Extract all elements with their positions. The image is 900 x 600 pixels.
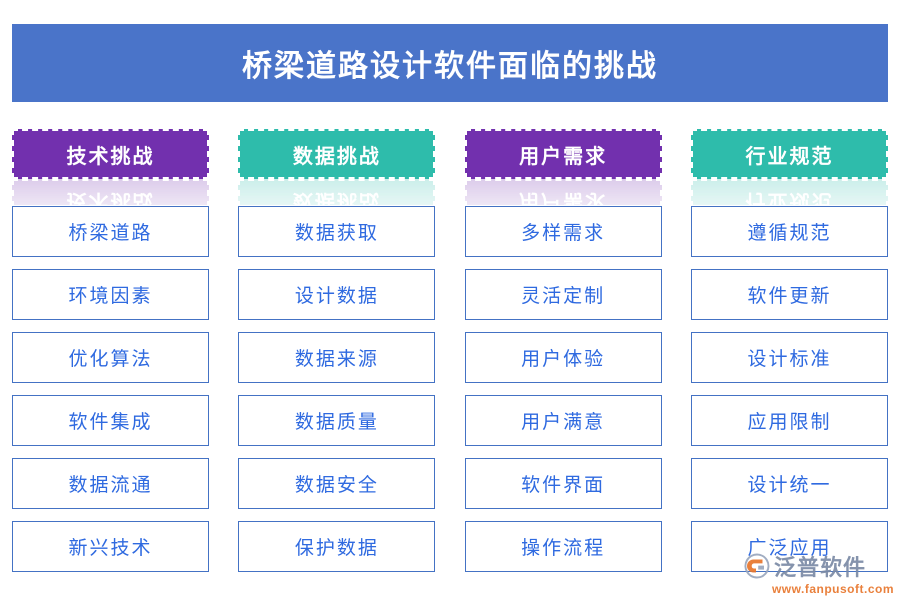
column-header-reflection: 行业规范 xyxy=(691,179,888,205)
list-item[interactable]: 用户满意 xyxy=(465,395,662,446)
column-technical-challenge: 技术挑战 技术挑战 桥梁道路 环境因素 优化算法 软件集成 数据流通 新兴技术 xyxy=(12,129,209,584)
list-item[interactable]: 软件界面 xyxy=(465,458,662,509)
list-item[interactable]: 用户体验 xyxy=(465,332,662,383)
column-user-requirements: 用户需求 用户需求 多样需求 灵活定制 用户体验 用户满意 软件界面 操作流程 xyxy=(465,129,662,584)
list-item[interactable]: 新兴技术 xyxy=(12,521,209,572)
column-header-wrap: 技术挑战 技术挑战 xyxy=(12,129,209,205)
list-item[interactable]: 软件更新 xyxy=(691,269,888,320)
list-item[interactable]: 操作流程 xyxy=(465,521,662,572)
column-data-challenge: 数据挑战 数据挑战 数据获取 设计数据 数据来源 数据质量 数据安全 保护数据 xyxy=(238,129,435,584)
column-cells: 多样需求 灵活定制 用户体验 用户满意 软件界面 操作流程 xyxy=(465,206,662,572)
list-item[interactable]: 软件集成 xyxy=(12,395,209,446)
list-item[interactable]: 遵循规范 xyxy=(691,206,888,257)
column-header-reflection-text: 数据挑战 xyxy=(238,179,435,205)
list-item[interactable]: 设计数据 xyxy=(238,269,435,320)
column-header-wrap: 数据挑战 数据挑战 xyxy=(238,129,435,205)
list-item[interactable]: 桥梁道路 xyxy=(12,206,209,257)
list-item[interactable]: 灵活定制 xyxy=(465,269,662,320)
list-item[interactable]: 环境因素 xyxy=(12,269,209,320)
list-item[interactable]: 保护数据 xyxy=(238,521,435,572)
column-header-industry-standards[interactable]: 行业规范 xyxy=(691,129,888,179)
column-header-reflection-text: 行业规范 xyxy=(691,179,888,205)
column-header-data-challenge[interactable]: 数据挑战 xyxy=(238,129,435,179)
column-cells: 桥梁道路 环境因素 优化算法 软件集成 数据流通 新兴技术 xyxy=(12,206,209,572)
challenge-board: 技术挑战 技术挑战 桥梁道路 环境因素 优化算法 软件集成 数据流通 新兴技术 … xyxy=(12,129,888,584)
list-item[interactable]: 设计标准 xyxy=(691,332,888,383)
column-header-reflection: 用户需求 xyxy=(465,179,662,205)
column-header-reflection-text: 用户需求 xyxy=(465,179,662,205)
column-header-wrap: 用户需求 用户需求 xyxy=(465,129,662,205)
column-header-user-requirements[interactable]: 用户需求 xyxy=(465,129,662,179)
list-item[interactable]: 数据流通 xyxy=(12,458,209,509)
list-item[interactable]: 数据安全 xyxy=(238,458,435,509)
list-item[interactable]: 优化算法 xyxy=(12,332,209,383)
page-banner: 桥梁道路设计软件面临的挑战 xyxy=(12,24,888,102)
list-item[interactable]: 数据来源 xyxy=(238,332,435,383)
list-item[interactable]: 应用限制 xyxy=(691,395,888,446)
column-header-technical-challenge[interactable]: 技术挑战 xyxy=(12,129,209,179)
column-cells: 数据获取 设计数据 数据来源 数据质量 数据安全 保护数据 xyxy=(238,206,435,572)
column-industry-standards: 行业规范 行业规范 遵循规范 软件更新 设计标准 应用限制 设计统一 广泛应用 xyxy=(691,129,888,584)
list-item[interactable]: 数据获取 xyxy=(238,206,435,257)
page-title: 桥梁道路设计软件面临的挑战 xyxy=(242,41,658,85)
column-header-reflection-text: 技术挑战 xyxy=(12,179,209,205)
column-cells: 遵循规范 软件更新 设计标准 应用限制 设计统一 广泛应用 xyxy=(691,206,888,572)
column-header-reflection: 数据挑战 xyxy=(238,179,435,205)
list-item[interactable]: 广泛应用 xyxy=(691,521,888,572)
list-item[interactable]: 设计统一 xyxy=(691,458,888,509)
watermark-url: www.fanpusoft.com xyxy=(772,582,894,596)
column-header-reflection: 技术挑战 xyxy=(12,179,209,205)
column-header-wrap: 行业规范 行业规范 xyxy=(691,129,888,205)
list-item[interactable]: 数据质量 xyxy=(238,395,435,446)
list-item[interactable]: 多样需求 xyxy=(465,206,662,257)
